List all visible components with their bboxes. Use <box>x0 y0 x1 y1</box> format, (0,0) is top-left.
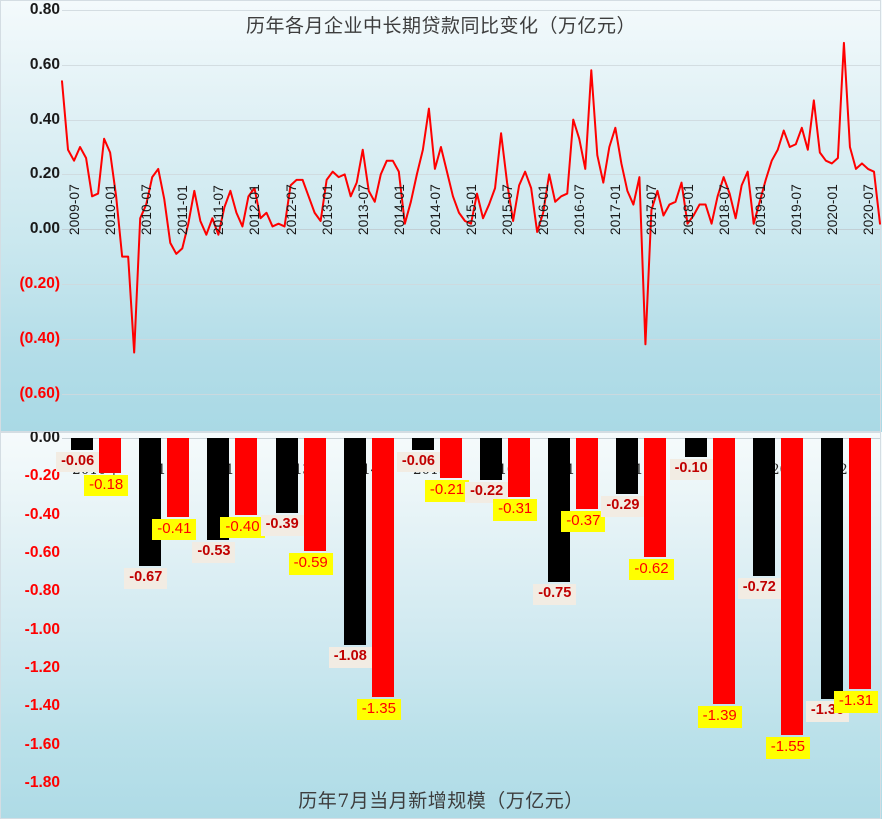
x-tick-label: 2013-07 <box>356 184 371 235</box>
x-tick-label: 2010-01 <box>103 184 118 235</box>
x-tick-label: 2013-01 <box>320 184 335 235</box>
bar-corporate-deposit <box>644 438 666 557</box>
bar-chart-title: 历年7月当月新增规模（万亿元） <box>0 786 882 813</box>
x-tick-label: 2009-07 <box>67 184 82 235</box>
bar-corporate-deposit <box>372 438 394 697</box>
bar-resident-deposit <box>412 438 434 450</box>
y-tick-label: -1.00 <box>4 622 60 638</box>
x-tick-label: 2015-07 <box>500 184 515 235</box>
bar-corporate-deposit <box>508 438 530 497</box>
y-tick-label: 0.00 <box>4 432 60 446</box>
bar-resident-deposit <box>139 438 161 566</box>
bar-value-label: -0.67 <box>124 568 167 589</box>
bar-value-label: -0.40 <box>220 517 264 539</box>
y-tick-label: -0.80 <box>4 583 60 599</box>
x-tick-label: 2020-07 <box>861 184 876 235</box>
y-tick-label: 0.60 <box>4 57 60 73</box>
bar-value-label: -0.29 <box>601 496 644 517</box>
y-tick-label: -0.60 <box>4 545 60 561</box>
bar-value-label: -0.06 <box>56 452 99 473</box>
x-tick-label: 2018-01 <box>681 184 696 235</box>
y-tick-label: -1.60 <box>4 737 60 753</box>
x-tick-label: 2020-01 <box>825 184 840 235</box>
y-tick-label: (0.40) <box>4 331 60 347</box>
bar-value-label: -0.72 <box>738 578 781 599</box>
y-tick-label: (0.60) <box>4 386 60 402</box>
bar-resident-deposit <box>71 438 93 450</box>
bar-corporate-deposit <box>235 438 257 515</box>
bar-value-label: -0.06 <box>397 452 440 473</box>
bar-value-label: -0.21 <box>425 480 469 502</box>
bar-value-label: -1.35 <box>357 699 401 721</box>
y-tick-label: 0.80 <box>4 2 60 18</box>
dual-chart-figure: 历年各月企业中长期贷款同比变化（万亿元） 0.800.600.400.200.0… <box>0 0 882 819</box>
x-tick-label: 2017-01 <box>608 184 623 235</box>
y-tick-label: 0.20 <box>4 166 60 182</box>
x-tick-label: 2016-01 <box>536 184 551 235</box>
bar-value-label: -1.39 <box>698 706 742 728</box>
bar-resident-deposit <box>548 438 570 582</box>
bar-value-label: -0.37 <box>561 511 605 533</box>
bar-corporate-deposit <box>99 438 121 473</box>
bar-corporate-deposit <box>713 438 735 704</box>
bar-value-label: -0.39 <box>261 515 304 536</box>
bar-value-label: -0.75 <box>533 584 576 605</box>
x-tick-label: 2015-01 <box>464 184 479 235</box>
x-tick-label: 2018-07 <box>717 184 732 235</box>
bar-resident-deposit <box>616 438 638 494</box>
bar-resident-deposit <box>685 438 707 457</box>
x-tick-label: 2019-01 <box>753 184 768 235</box>
bar-value-label: -0.62 <box>629 559 673 581</box>
bar-resident-deposit <box>821 438 843 699</box>
y-tick-label: -1.20 <box>4 660 60 676</box>
y-tick-label: 0.40 <box>4 112 60 128</box>
x-tick-label: 2016-07 <box>572 184 587 235</box>
x-tick-label: 2012-07 <box>284 184 299 235</box>
x-tick-label: 2010-07 <box>139 184 154 235</box>
x-tick-label: 2019-07 <box>789 184 804 235</box>
line-chart-panel: 历年各月企业中长期贷款同比变化（万亿元） 0.800.600.400.200.0… <box>0 0 882 432</box>
bar-chart-y-axis: 0.00-0.20-0.40-0.60-0.80-1.00-1.20-1.40-… <box>0 432 60 819</box>
bar-resident-deposit <box>753 438 775 576</box>
bar-corporate-deposit <box>440 438 462 478</box>
x-tick-label: 2011-01 <box>175 185 190 235</box>
bar-value-label: -0.18 <box>84 475 128 497</box>
x-tick-label: 2014-01 <box>392 184 407 235</box>
y-tick-label: 0.00 <box>4 221 60 237</box>
x-tick-label: 2014-07 <box>428 184 443 235</box>
bar-corporate-deposit <box>576 438 598 509</box>
bar-chart-plot-area: 2010年-0.06-0.182011年-0.67-0.412012年-0.53… <box>62 438 880 783</box>
bar-corporate-deposit <box>167 438 189 517</box>
line-chart-y-axis: 0.800.600.400.200.00(0.20)(0.40)(0.60) <box>0 0 60 432</box>
x-tick-label: 2011-07 <box>211 185 226 235</box>
bar-corporate-deposit <box>781 438 803 735</box>
bar-resident-deposit <box>276 438 298 513</box>
y-tick-label: -0.20 <box>4 468 60 484</box>
bar-value-label: -1.31 <box>834 691 878 713</box>
x-tick-label: 2017-07 <box>644 184 659 235</box>
bar-value-label: -0.59 <box>289 553 333 575</box>
bar-resident-deposit <box>344 438 366 645</box>
bar-chart-panel: 0.00-0.20-0.40-0.60-0.80-1.00-1.20-1.40-… <box>0 432 882 819</box>
bar-value-label: -0.41 <box>152 519 196 541</box>
y-tick-label: -0.40 <box>4 507 60 523</box>
bar-value-label: -0.53 <box>192 542 235 563</box>
y-tick-label: -1.40 <box>4 698 60 714</box>
bar-value-label: -0.31 <box>493 499 537 521</box>
bar-value-label: -0.10 <box>670 459 713 480</box>
bar-corporate-deposit <box>849 438 871 689</box>
bar-resident-deposit <box>480 438 502 480</box>
y-tick-label: (0.20) <box>4 276 60 292</box>
bar-value-label: -1.55 <box>766 737 810 759</box>
bar-corporate-deposit <box>304 438 326 551</box>
bar-value-label: -1.08 <box>329 647 372 668</box>
x-tick-label: 2012-01 <box>247 184 262 235</box>
